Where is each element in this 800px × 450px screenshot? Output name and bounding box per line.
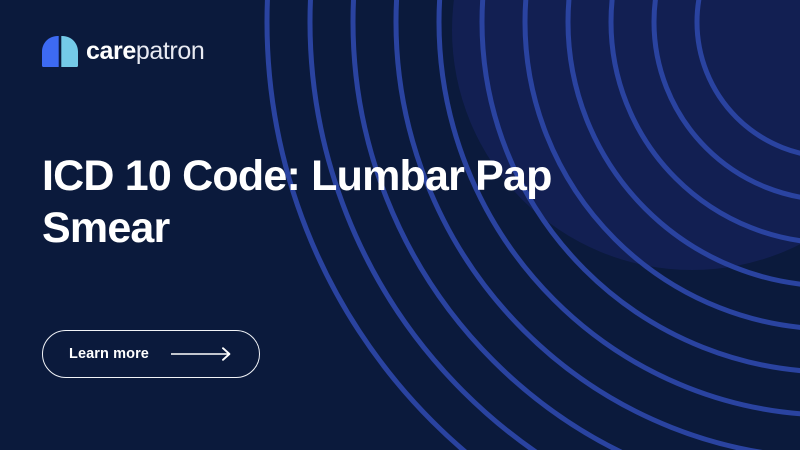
brand-name-light: patron bbox=[136, 37, 205, 65]
brand-logo[interactable]: carepatron bbox=[42, 33, 204, 69]
learn-more-label: Learn more bbox=[69, 346, 149, 362]
brand-wordmark: carepatron bbox=[86, 39, 204, 64]
brand-name-bold: care bbox=[86, 37, 136, 65]
promo-banner: carepatron ICD 10 Code: Lumbar Pap Smear… bbox=[0, 0, 800, 450]
page-title: ICD 10 Code: Lumbar Pap Smear bbox=[42, 150, 562, 255]
carepatron-logo-icon bbox=[42, 36, 78, 67]
learn-more-button[interactable]: Learn more bbox=[42, 330, 260, 378]
arrow-right-icon bbox=[171, 347, 233, 361]
